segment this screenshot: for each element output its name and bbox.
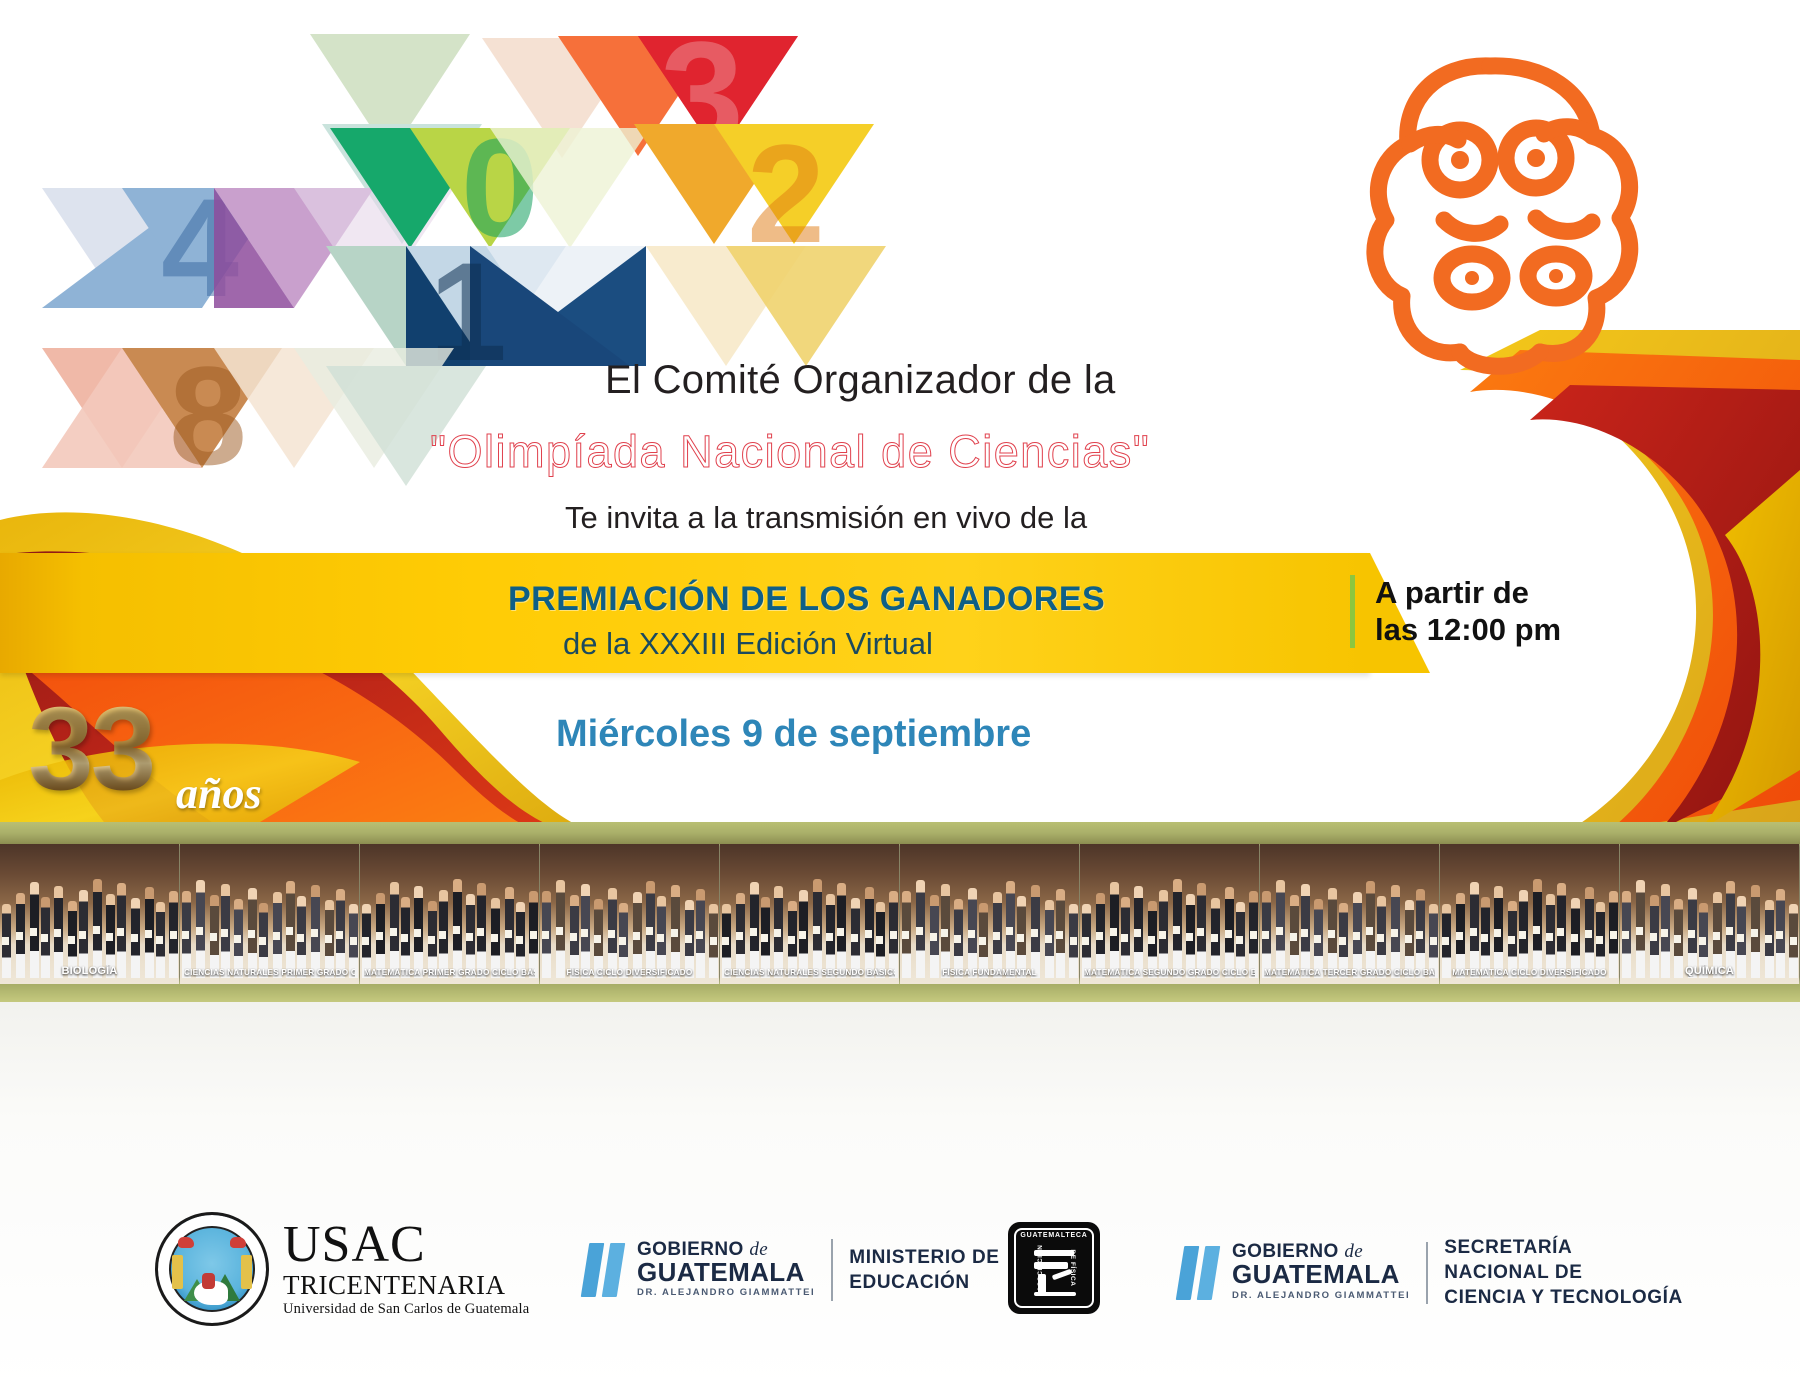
certificate (696, 931, 703, 939)
poster-root: 3 4 0 2 1 (0, 0, 1800, 1390)
certificate (608, 930, 615, 938)
category-label: FÍSICA FUNDAMENTAL (904, 968, 1075, 977)
photo-cell: QUÍMICA (1620, 844, 1800, 984)
certificate (170, 931, 177, 939)
certificate (145, 930, 152, 938)
certificate (1225, 930, 1232, 938)
certificate (1596, 936, 1603, 944)
certificate (234, 935, 241, 943)
certificate (221, 929, 228, 937)
certificate (1790, 937, 1797, 945)
certificate (30, 928, 37, 936)
certificate (1262, 931, 1269, 939)
photo-cell: MATEMÁTICA SEGUNDO GRADO CICLO BÁSICO (1080, 844, 1260, 984)
certificate (671, 929, 678, 937)
certificate (325, 935, 332, 943)
category-label: CIENCIAS NATURALES PRIMER GRADO CICLO BÁ… (184, 968, 355, 977)
event-name-text: "Olimpíada Nacional de Ciencias" (430, 426, 1150, 478)
gobierno-mark-icon-2 (1180, 1246, 1216, 1300)
certificate (453, 926, 460, 934)
invite-line-text: Te invita a la transmisión en vivo de la (565, 500, 1087, 536)
certificate (1674, 935, 1681, 943)
gob-line2: GUATEMALA (637, 1259, 815, 1286)
gob-line3: DR. ALEJANDRO GIAMMATTEI (637, 1286, 815, 1300)
banner-subtitle-text: de la XXXIII Edición Virtual (563, 626, 933, 662)
certificate (1405, 935, 1412, 943)
certificate (2, 937, 9, 945)
senacyt-line1: SECRETARÍA (1444, 1235, 1683, 1260)
logo-mineduc: GOBIERNO de GUATEMALA DR. ALEJANDRO GIAM… (585, 1239, 1000, 1301)
divider (831, 1239, 833, 1301)
certificate (1211, 934, 1218, 942)
certificate (876, 936, 883, 944)
certificate (1751, 929, 1758, 937)
certificate (1173, 926, 1180, 934)
certificate (954, 935, 961, 943)
certificate (619, 937, 626, 945)
certificate (1353, 932, 1360, 940)
certificate (1636, 927, 1643, 935)
divider-2 (1426, 1242, 1428, 1304)
certificate (570, 933, 577, 941)
certificate (1622, 931, 1629, 939)
certificate (439, 931, 446, 939)
certificate (1508, 936, 1515, 944)
certificate (16, 932, 23, 940)
certificate (916, 927, 923, 935)
certificate (41, 934, 48, 942)
certificate (1134, 929, 1141, 937)
certificate (968, 930, 975, 938)
certificate (505, 930, 512, 938)
certificate (1006, 927, 1013, 935)
winners-photo-strip: BIOLOGÍACIENCIAS NATURALES PRIMER GRADO … (0, 822, 1800, 1002)
certificate (491, 934, 498, 942)
certificate (1339, 937, 1346, 945)
usac-name: USAC (283, 1220, 529, 1269)
certificate (993, 932, 1000, 940)
certificate (1610, 931, 1617, 939)
certificate (1585, 930, 1592, 938)
certificate (350, 937, 357, 945)
certificate (336, 931, 343, 939)
certificate (414, 929, 421, 937)
photo-cell: MATEMÁTICA CICLO DIVERSIFICADO (1440, 844, 1620, 984)
certificate (390, 928, 397, 936)
certificate (362, 937, 369, 945)
anniversary-word: años (176, 768, 262, 819)
usac-subtitle: TRICENTENARIA (283, 1270, 529, 1301)
category-label: MATEMÁTICA TERCER GRADO CICLO BÁSICO (1264, 968, 1435, 977)
certificate (657, 934, 664, 942)
certificate (1726, 927, 1733, 935)
certificate (182, 931, 189, 939)
certificate (1082, 937, 1089, 945)
usac-tagline: Universidad de San Carlos de Guatemala (283, 1301, 529, 1318)
senacyt-line3: CIENCIA Y TECNOLOGÍA (1444, 1285, 1683, 1310)
gob2-line3: DR. ALEJANDRO GIAMMATTEI (1232, 1289, 1410, 1303)
event-date-text: Miércoles 9 de septiembre (556, 713, 1031, 756)
certificate (1481, 934, 1488, 942)
senacyt-name: SECRETARÍA NACIONAL DE CIENCIA Y TECNOLO… (1444, 1235, 1683, 1310)
photo-cell: BIOLOGÍA (0, 844, 180, 984)
certificate (1276, 927, 1283, 935)
certificate (286, 927, 293, 935)
certificate (106, 933, 113, 941)
mineduc-line1: MINISTERIO DE (849, 1245, 999, 1270)
senacyt-line2: NACIONAL DE (1444, 1260, 1683, 1285)
certificate (774, 929, 781, 937)
certificate (1148, 936, 1155, 944)
certificate (1713, 932, 1720, 940)
logo-senacyt: GOBIERNO de GUATEMALA DR. ALEJANDRO GIAM… (1180, 1235, 1683, 1310)
logo-usac: USAC TRICENTENARIA Universidad de San Ca… (155, 1212, 529, 1326)
photo-cell: MATEMÁTICA TERCER GRADO CICLO BÁSICO (1260, 844, 1440, 984)
certificate (722, 937, 729, 945)
category-label: QUÍMICA (1624, 965, 1795, 977)
photo-cells: BIOLOGÍACIENCIAS NATURALES PRIMER GRADO … (0, 844, 1800, 984)
certificate (79, 931, 86, 939)
certificate (1366, 927, 1373, 935)
category-label: MATEMÁTICA SEGUNDO GRADO CICLO BÁSICO (1084, 968, 1255, 977)
certificate (1110, 928, 1117, 936)
certificate (1430, 937, 1437, 945)
category-label: FÍSICA CICLO DIVERSIFICADO (544, 968, 715, 977)
certificate (117, 928, 124, 936)
certificate (633, 932, 640, 940)
certificate (750, 928, 757, 936)
certificate (710, 937, 717, 945)
certificate (1121, 934, 1128, 942)
certificate (156, 936, 163, 944)
event-time-block: A partir de las 12:00 pm (1350, 575, 1635, 648)
photo-cell: FÍSICA FUNDAMENTAL (900, 844, 1080, 984)
certificate (1533, 926, 1540, 934)
certificate (1456, 932, 1463, 940)
certificate (542, 931, 549, 939)
usac-wordmark: USAC TRICENTENARIA Universidad de San Ca… (283, 1220, 529, 1317)
mayan-glyph-icon (1340, 40, 1650, 380)
certificate (1056, 931, 1063, 939)
category-label: CIENCIAS NATURALES SEGUNDO BÁSICO (724, 968, 895, 977)
certificate (1442, 937, 1449, 945)
certificate (68, 936, 75, 944)
certificate (1328, 930, 1335, 938)
certificate (902, 931, 909, 939)
certificate (813, 926, 820, 934)
certificate (311, 929, 318, 937)
certificate (930, 933, 937, 941)
certificate (1765, 935, 1772, 943)
certificate (1301, 929, 1308, 937)
certificate (428, 936, 435, 944)
anniversary-number: 33 (28, 690, 153, 808)
mineduc-line2: EDUCACIÓN (849, 1270, 999, 1295)
certificate (1236, 936, 1243, 944)
gobierno-wordmark: GOBIERNO de GUATEMALA DR. ALEJANDRO GIAM… (637, 1240, 815, 1301)
certificate (1699, 937, 1706, 945)
certificate (93, 926, 100, 934)
certificate (248, 930, 255, 938)
certificate (530, 931, 537, 939)
certificate (1159, 931, 1166, 939)
mineduc-name: MINISTERIO DE EDUCACIÓN (849, 1245, 999, 1295)
certificate (761, 934, 768, 942)
photo-cell: CIENCIAS NATURALES SEGUNDO BÁSICO (720, 844, 900, 984)
certificate (297, 934, 304, 942)
certificate (376, 932, 383, 940)
certificate (1494, 929, 1501, 937)
certificate (646, 927, 653, 935)
certificate (1571, 934, 1578, 942)
certificate (1017, 934, 1024, 942)
certificate (1416, 931, 1423, 939)
photo-cell: CIENCIAS NATURALES PRIMER GRADO CICLO BÁ… (180, 844, 360, 984)
certificate (54, 929, 61, 937)
certificate (1688, 930, 1695, 938)
certificate (826, 933, 833, 941)
sponsor-logos-row: USAC TRICENTENARIA Universidad de San Ca… (0, 1217, 1800, 1367)
certificate (594, 935, 601, 943)
certificate (1045, 935, 1052, 943)
certificate (979, 937, 986, 945)
certificate (1096, 932, 1103, 940)
certificate (1290, 933, 1297, 941)
certificate (1070, 937, 1077, 945)
time-line-2: las 12:00 pm (1375, 612, 1635, 649)
certificate (196, 927, 203, 935)
certificate (851, 934, 858, 942)
certificate (516, 936, 523, 944)
photo-cell: FÍSICA CICLO DIVERSIFICADO (540, 844, 720, 984)
category-label: MATEMÁTICA CICLO DIVERSIFICADO (1444, 968, 1615, 977)
certificate (1661, 929, 1668, 937)
category-label: MATEMÁTICA PRIMER GRADO CICLO BÁSICO (364, 968, 535, 977)
certificate (941, 929, 948, 937)
anniversary-badge: 33 años (28, 690, 328, 830)
gobierno-mark-icon (585, 1243, 621, 1297)
certificate (890, 931, 897, 939)
usac-seal-icon (155, 1212, 269, 1326)
certificate (1519, 931, 1526, 939)
certificate (131, 934, 138, 942)
certificate (273, 932, 280, 940)
category-label: BIOLOGÍA (4, 965, 175, 977)
afg-top-text: GUATEMALTECA (1008, 1232, 1100, 1239)
gobierno-wordmark-2: GOBIERNO de GUATEMALA DR. ALEJANDRO GIAM… (1232, 1242, 1410, 1303)
gob2-line2: GUATEMALA (1232, 1261, 1410, 1288)
certificate (788, 936, 795, 944)
photo-cell: MATEMÁTICA PRIMER GRADO CICLO BÁSICO (360, 844, 540, 984)
banner-title-text: PREMIACIÓN DE LOS GANADORES (508, 580, 1105, 619)
certificate (1470, 928, 1477, 936)
certificate (556, 927, 563, 935)
logo-asociacion-guatemalteca-fisica: GUATEMALTECA ASOCIACIÓN DE FÍSICA (1008, 1222, 1100, 1314)
certificate (1314, 935, 1321, 943)
certificate (581, 929, 588, 937)
certificate (799, 931, 806, 939)
certificate (477, 928, 484, 936)
headline-text: El Comité Organizador de la (605, 358, 1116, 403)
certificate (837, 928, 844, 936)
certificate (1377, 934, 1384, 942)
certificate (466, 933, 473, 941)
certificate (210, 933, 217, 941)
certificate (1546, 933, 1553, 941)
footer-sponsors: USAC TRICENTENARIA Universidad de San Ca… (0, 1002, 1800, 1390)
certificate (1031, 929, 1038, 937)
certificate (865, 930, 872, 938)
certificate (1776, 931, 1783, 939)
certificate (1737, 934, 1744, 942)
certificate (1391, 929, 1398, 937)
certificate (1557, 928, 1564, 936)
certificate (1197, 928, 1204, 936)
certificate (736, 932, 743, 940)
certificate (1650, 933, 1657, 941)
certificate (685, 935, 692, 943)
time-line-1: A partir de (1375, 575, 1635, 612)
certificate (259, 937, 266, 945)
certificate (1250, 931, 1257, 939)
certificate (401, 934, 408, 942)
certificate (1186, 933, 1193, 941)
